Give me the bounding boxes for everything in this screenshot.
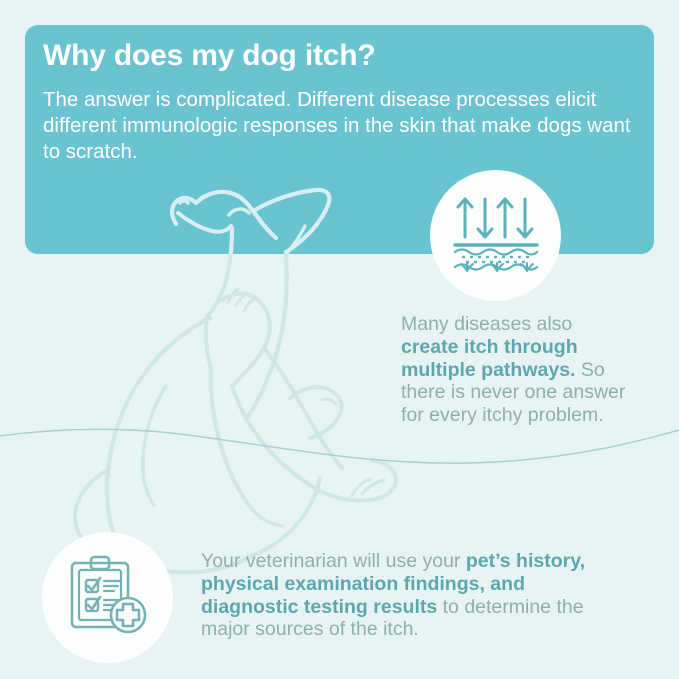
page-title: Why does my dog itch? <box>43 39 375 73</box>
emphasis-text: create itch through multiple pathways. <box>401 336 578 381</box>
middle-text-block: Many diseases also create itch through m… <box>401 313 629 427</box>
clipboard-icon-circle <box>42 532 173 663</box>
body-text: Your veterinarian will use your <box>201 550 466 572</box>
skin-barrier-arrows-icon <box>453 193 539 278</box>
clipboard-checklist-medical-icon <box>66 553 150 642</box>
header-card: Why does my dog itch? The answer is comp… <box>25 25 654 254</box>
header-paragraph: The answer is complicated. Different dis… <box>43 87 638 165</box>
infographic-canvas: Why does my dog itch? The answer is comp… <box>0 0 679 679</box>
skin-barrier-icon-circle <box>430 170 561 301</box>
body-text: Many diseases also <box>401 313 572 335</box>
bottom-text-block: Your veterinarian will use your pet’s hi… <box>201 550 626 641</box>
